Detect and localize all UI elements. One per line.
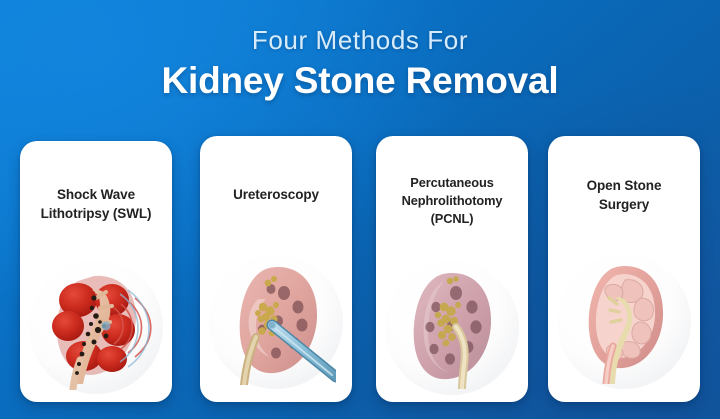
kidney-pcnl-icon — [394, 267, 510, 389]
card-illustration-wrap — [548, 242, 700, 402]
poster-subtitle: Four Methods For — [0, 26, 720, 55]
method-card-percutaneous-nephrolithotomy[interactable]: Percutaneous Nephrolithotomy (PCNL) — [376, 136, 528, 402]
method-card-shock-wave-lithotripsy[interactable]: Shock Wave Lithotripsy (SWL) — [20, 141, 172, 402]
illustration-disc — [557, 255, 691, 389]
kidney-shockwave-icon — [36, 264, 156, 390]
card-illustration-wrap — [20, 247, 172, 402]
card-title: Ureteroscopy — [200, 136, 352, 254]
method-card-row: Shock Wave Lithotripsy (SWL) — [20, 136, 700, 404]
card-title: Percutaneous Nephrolithotomy (PCNL) — [376, 136, 528, 266]
kidney-anatomy-icon — [565, 260, 683, 384]
poster-title: Kidney Stone Removal — [0, 60, 720, 101]
card-title: Open Stone Surgery — [548, 136, 700, 254]
illustration-disc — [385, 261, 519, 395]
illustration-disc — [209, 255, 343, 389]
infographic-poster: Four Methods For Kidney Stone Removal Sh… — [0, 0, 720, 419]
poster-header: Four Methods For Kidney Stone Removal — [0, 26, 720, 102]
illustration-disc — [29, 260, 163, 394]
kidney-ureteroscope-icon — [216, 259, 336, 385]
method-card-open-stone-surgery[interactable]: Open Stone Surgery — [548, 136, 700, 402]
method-card-ureteroscopy[interactable]: Ureteroscopy — [200, 136, 352, 402]
card-illustration-wrap — [200, 242, 352, 402]
card-illustration-wrap — [376, 254, 528, 402]
card-title: Shock Wave Lithotripsy (SWL) — [20, 141, 172, 253]
